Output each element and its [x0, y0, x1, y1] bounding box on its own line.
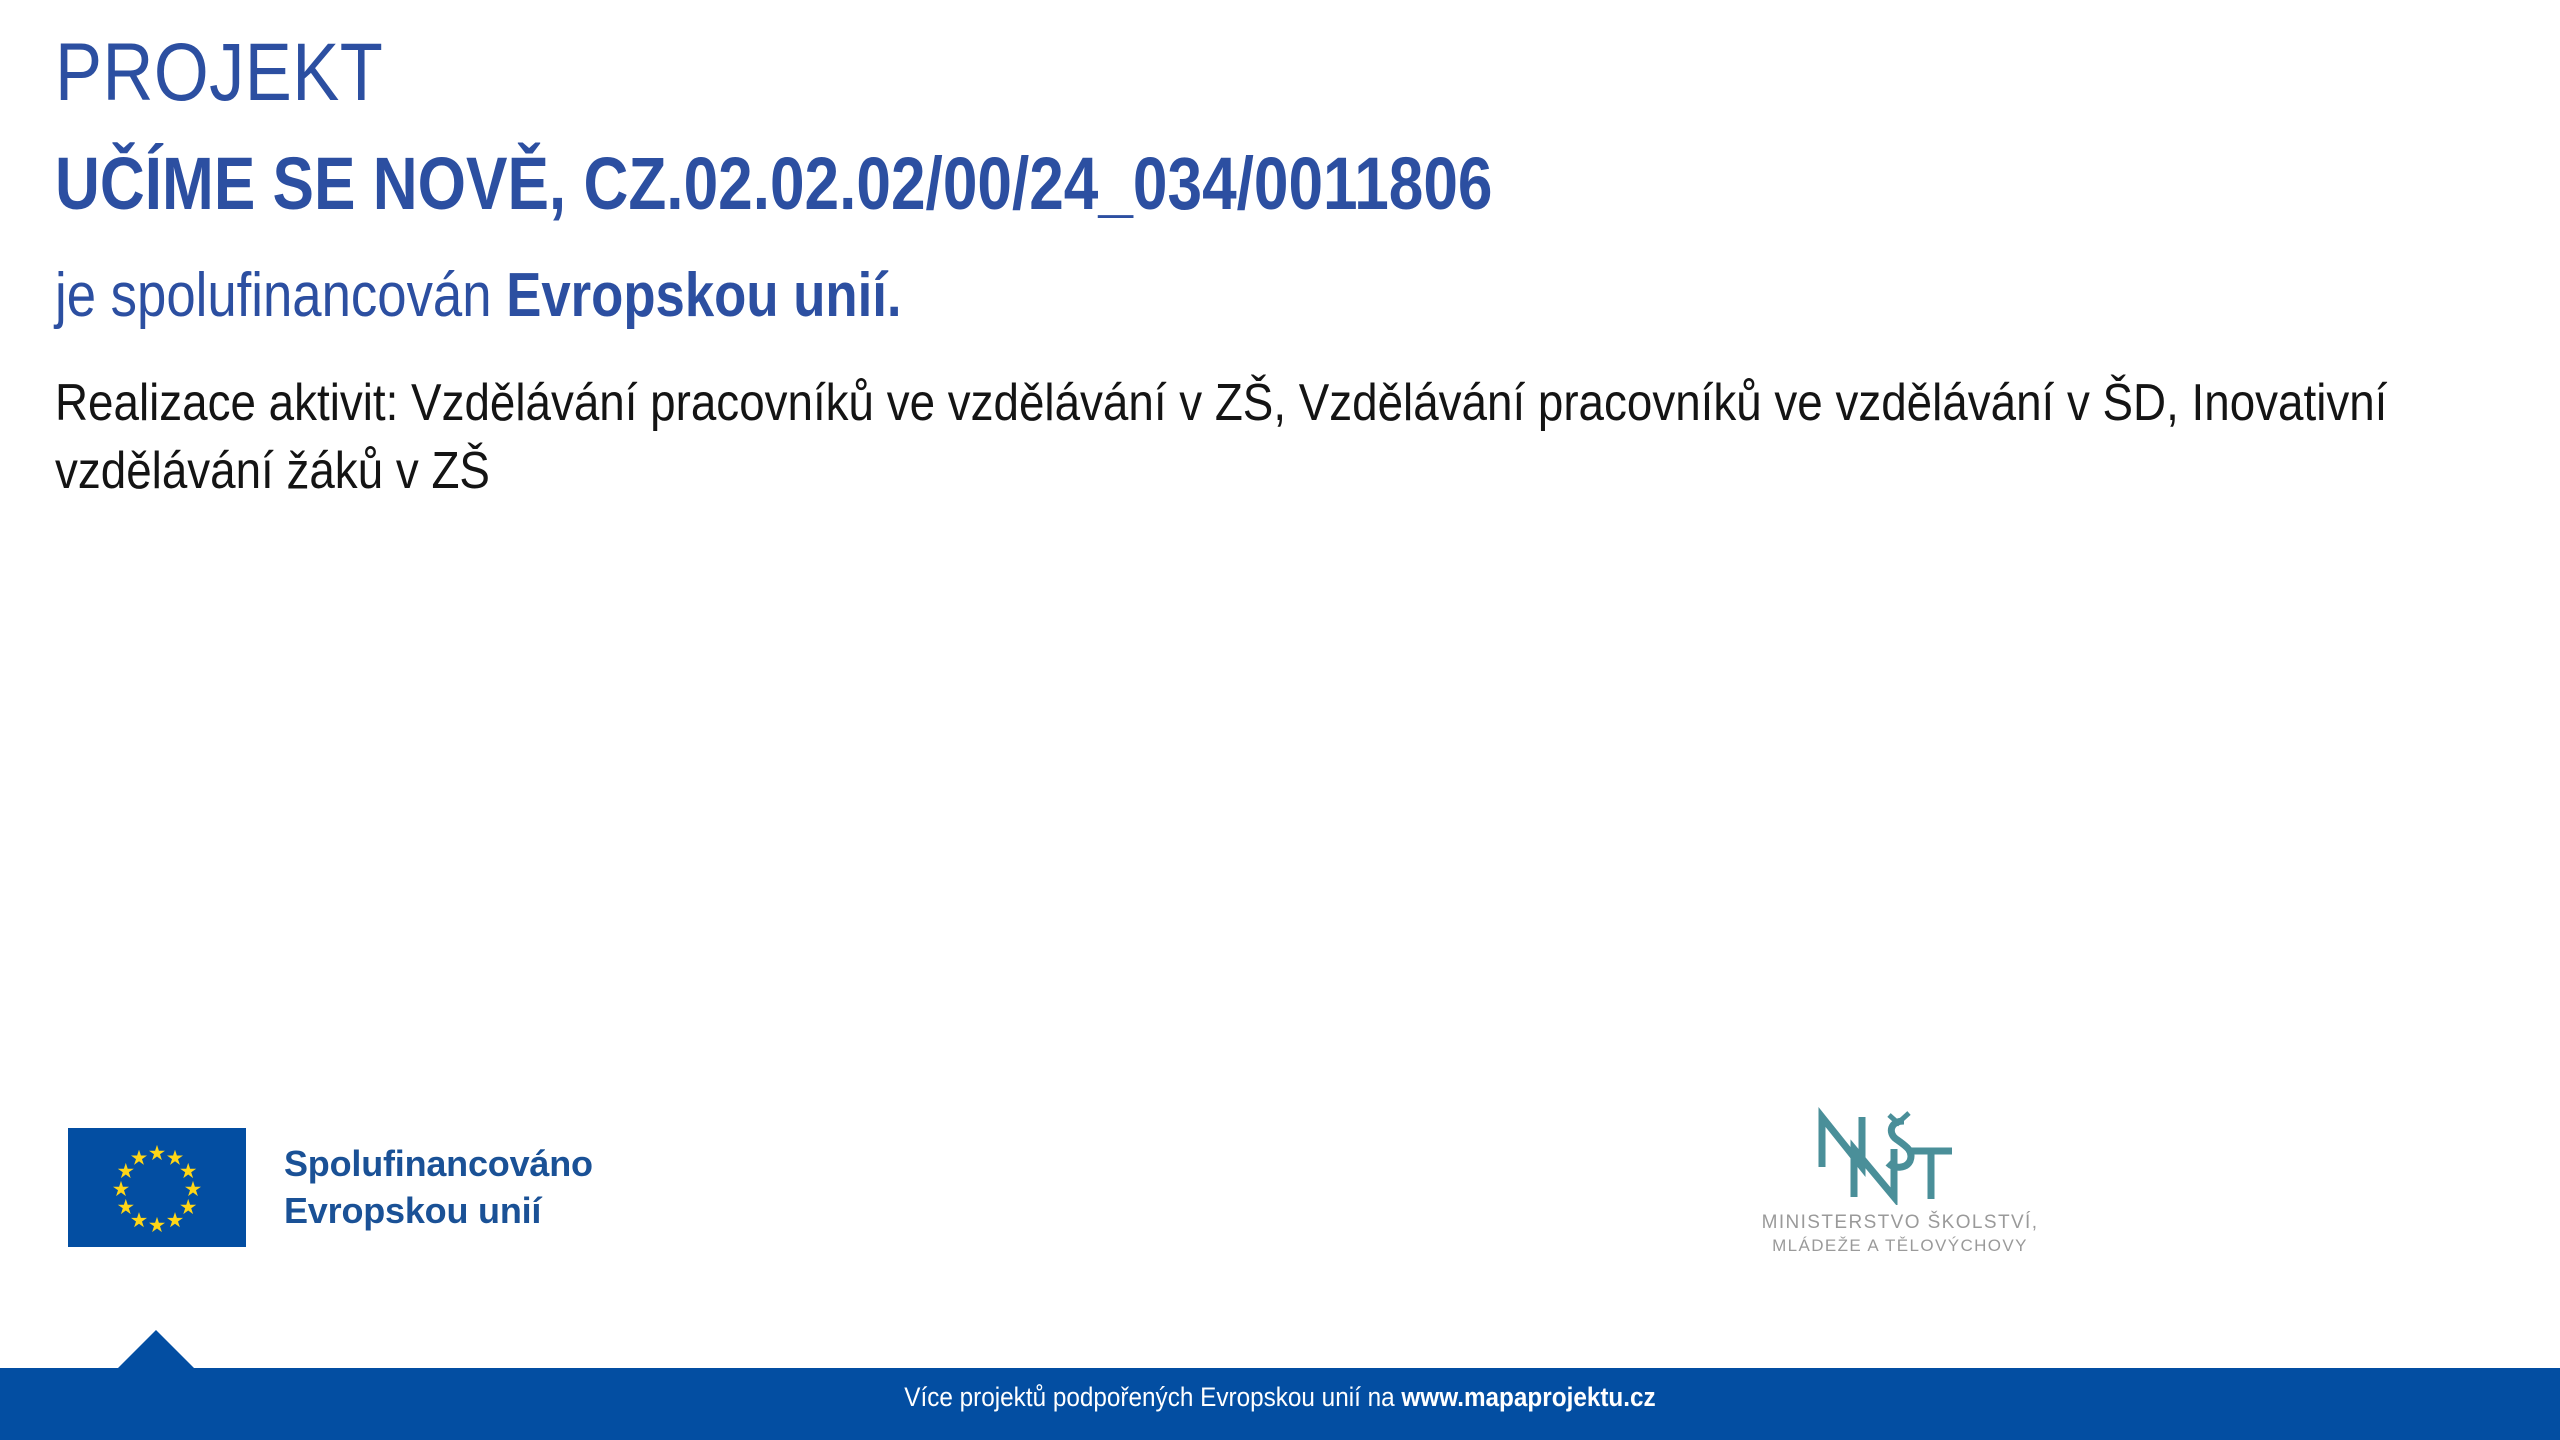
cofinanced-prefix: je spolufinancován — [55, 261, 506, 330]
msmt-label-line-1: MINISTERSTVO ŠKOLSTVÍ, — [1755, 1211, 2045, 1235]
cofinanced-emphasis: Evropskou unií. — [506, 261, 901, 330]
eu-flag-icon — [68, 1128, 246, 1247]
eu-logo-text: Spolufinancováno Evropskou unií — [284, 1141, 593, 1235]
msmt-monogram-icon — [1810, 1105, 1990, 1205]
msmt-ministry-logo: MINISTERSTVO ŠKOLSTVÍ, MLÁDEŽE A TĚLOVÝC… — [1755, 1105, 2045, 1256]
activities-paragraph: Realizace aktivit: Vzdělávání pracovníků… — [55, 370, 2466, 505]
eu-cofinancing-logo: Spolufinancováno Evropskou unií — [68, 1128, 593, 1247]
footer-website-link[interactable]: www.mapaprojektu.cz — [1401, 1382, 1655, 1412]
footer-caption: Více projektů podpořených Evropskou unií… — [128, 1384, 2432, 1411]
eu-logo-line-2: Evropskou unií — [284, 1188, 593, 1235]
project-title: UČÍME SE NOVĚ, CZ.02.02.02/00/24_034/001… — [55, 144, 2088, 224]
cofinanced-line: je spolufinancován Evropskou unií. — [55, 262, 2112, 330]
msmt-label-line-2: MLÁDEŽE A TĚLOVÝCHOVY — [1755, 1235, 2045, 1256]
page-kicker: PROJEKT — [55, 30, 2136, 116]
footer-caption-prefix: Více projektů podpořených Evropskou unií… — [904, 1382, 1401, 1412]
eu-logo-line-1: Spolufinancováno — [284, 1141, 593, 1188]
text-content-block: PROJEKT UČÍME SE NOVĚ, CZ.02.02.02/00/24… — [55, 30, 2475, 505]
footer-peak-marker — [117, 1330, 195, 1369]
slide-canvas: PROJEKT UČÍME SE NOVĚ, CZ.02.02.02/00/24… — [0, 0, 2560, 1440]
